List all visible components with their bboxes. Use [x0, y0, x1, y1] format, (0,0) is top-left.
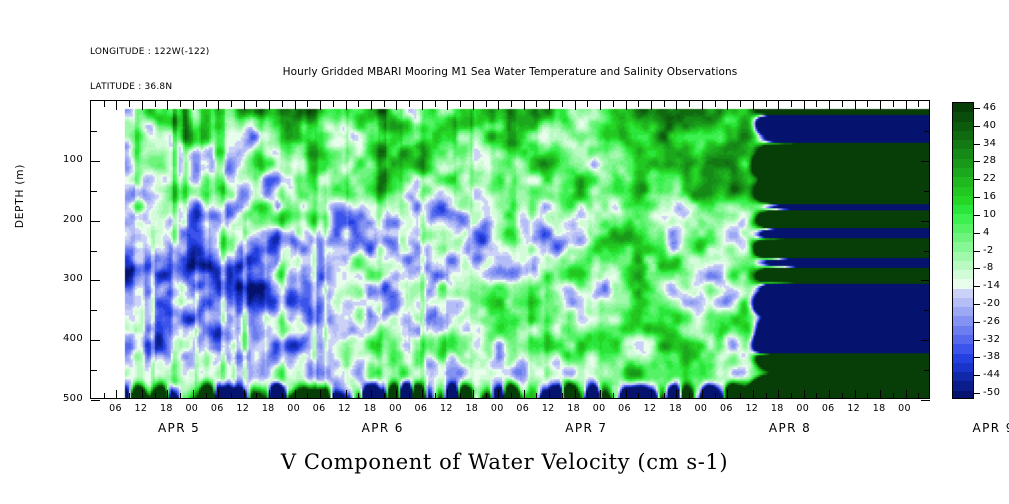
x-axis-day-label: APR 5	[124, 421, 234, 435]
colorbar-tick-label: -2	[983, 246, 994, 256]
x-axis-tick	[575, 390, 576, 399]
colorbar-tick-label: -14	[983, 281, 1000, 291]
x-axis-minor-tick	[104, 101, 105, 107]
x-axis-tick	[549, 101, 550, 110]
colorbar-ticks: 464034282216104-2-8-14-20-26-32-38-44-50	[952, 102, 1009, 399]
colorbar-tick-label: -20	[983, 299, 1000, 309]
x-axis-minor-tick	[918, 101, 919, 107]
y-axis-minor-tick	[91, 370, 97, 371]
colorbar-tick	[974, 286, 980, 287]
colorbar-tick	[974, 340, 980, 341]
x-axis-minor-tick	[536, 101, 537, 107]
x-axis-tick	[651, 101, 652, 110]
figure-caption: V Component of Water Velocity (cm s-1)	[0, 450, 1009, 474]
x-axis-tick	[116, 390, 117, 399]
x-axis-minor-tick	[587, 393, 588, 399]
colorbar-tick-label: 22	[983, 174, 996, 184]
x-axis-minor-tick	[791, 101, 792, 107]
plot-frame	[90, 100, 930, 399]
colorbar-tick-label: 34	[983, 139, 996, 149]
x-axis-tick	[371, 390, 372, 399]
y-axis-tick	[921, 280, 930, 281]
x-axis-tick	[804, 390, 805, 399]
colorbar-tick	[974, 108, 980, 109]
x-axis-tick	[346, 101, 347, 110]
x-axis-tick	[422, 101, 423, 110]
x-axis-tick	[676, 101, 677, 110]
x-axis-minor-tick	[740, 101, 741, 107]
colorbar-tick	[974, 375, 980, 376]
colorbar-tick	[974, 179, 980, 180]
x-axis-minor-tick	[358, 101, 359, 107]
x-axis-minor-tick	[409, 393, 410, 399]
colorbar-tick	[974, 251, 980, 252]
x-axis-tick	[473, 101, 474, 110]
colorbar-tick-label: 4	[983, 228, 990, 238]
x-axis-tick	[829, 101, 830, 110]
y-axis-depth-label: 100	[43, 154, 83, 165]
x-axis-tick	[320, 101, 321, 110]
y-axis-depth-label: 300	[43, 273, 83, 284]
colorbar-tick	[974, 233, 980, 234]
x-axis-tick	[778, 101, 779, 110]
y-axis-minor-tick	[91, 251, 97, 252]
x-axis-tick	[269, 390, 270, 399]
y-axis-tick	[921, 400, 930, 401]
x-axis-tick	[753, 390, 754, 399]
plot-title: Hourly Gridded MBARI Mooring M1 Sea Wate…	[90, 66, 930, 78]
x-axis-tick	[371, 101, 372, 110]
x-axis-minor-tick	[206, 393, 207, 399]
x-axis-minor-tick	[740, 393, 741, 399]
x-axis-tick	[626, 390, 627, 399]
x-axis-tick	[727, 101, 728, 110]
x-axis-minor-tick	[664, 393, 665, 399]
x-axis-minor-tick	[638, 393, 639, 399]
x-axis-tick	[549, 390, 550, 399]
x-axis-minor-tick	[409, 101, 410, 107]
colorbar-tick	[974, 197, 980, 198]
x-axis-tick	[600, 390, 601, 399]
colorbar-tick-label: 16	[983, 192, 996, 202]
x-axis-minor-tick	[256, 101, 257, 107]
x-axis-minor-tick	[384, 101, 385, 107]
x-axis-tick	[906, 390, 907, 399]
x-axis-minor-tick	[155, 393, 156, 399]
x-axis-minor-tick	[307, 393, 308, 399]
x-axis-tick	[880, 101, 881, 110]
colorbar-tick-label: -26	[983, 317, 1000, 327]
x-axis-tick	[167, 101, 168, 110]
x-axis-tick	[193, 101, 194, 110]
x-axis-tick	[906, 101, 907, 110]
x-axis-tick	[244, 390, 245, 399]
x-axis-minor-tick	[613, 393, 614, 399]
x-axis-tick	[778, 390, 779, 399]
x-axis-tick	[524, 101, 525, 110]
x-axis-minor-tick	[638, 101, 639, 107]
x-axis-minor-tick	[816, 101, 817, 107]
x-axis-minor-tick	[715, 101, 716, 107]
x-axis-minor-tick	[333, 393, 334, 399]
colorbar-tick	[974, 144, 980, 145]
x-axis-tick	[447, 390, 448, 399]
y-axis-minor-tick	[924, 131, 930, 132]
x-axis-minor-tick	[180, 393, 181, 399]
x-axis-tick	[651, 390, 652, 399]
x-axis-minor-tick	[689, 101, 690, 107]
x-axis-minor-tick	[587, 101, 588, 107]
x-axis-minor-tick	[333, 101, 334, 107]
x-axis-tick	[295, 101, 296, 110]
x-axis-minor-tick	[664, 101, 665, 107]
x-axis-tick	[855, 390, 856, 399]
x-axis-tick	[804, 101, 805, 110]
colorbar-tick	[974, 357, 980, 358]
colorbar-tick	[974, 322, 980, 323]
x-axis-minor-tick	[435, 101, 436, 107]
x-axis-tick	[396, 101, 397, 110]
x-axis-tick	[600, 101, 601, 110]
x-axis-tick	[727, 390, 728, 399]
x-axis-tick	[116, 101, 117, 110]
x-axis-minor-tick	[766, 393, 767, 399]
colorbar-tick-label: 28	[983, 156, 996, 166]
x-axis-minor-tick	[155, 101, 156, 107]
latitude-label: LATITUDE : 36.8N	[90, 82, 210, 94]
x-axis-tick	[295, 390, 296, 399]
x-axis-tick	[880, 390, 881, 399]
x-axis-tick	[447, 101, 448, 110]
y-axis-minor-tick	[924, 191, 930, 192]
x-axis-minor-tick	[358, 393, 359, 399]
x-axis-day-label: APR 6	[328, 421, 438, 435]
colorbar-tick-label: -38	[983, 352, 1000, 362]
x-axis-minor-tick	[715, 393, 716, 399]
x-axis-tick	[320, 390, 321, 399]
colorbar-tick-label: -32	[983, 335, 1000, 345]
colorbar-tick-label: 46	[983, 103, 996, 113]
x-axis-tick	[142, 101, 143, 110]
y-axis-tick	[91, 161, 100, 162]
x-axis-minor-tick	[536, 393, 537, 399]
x-axis-tick	[524, 390, 525, 399]
x-axis-tick	[498, 390, 499, 399]
x-axis-minor-tick	[460, 101, 461, 107]
x-axis-minor-tick	[129, 101, 130, 107]
y-axis-minor-tick	[924, 251, 930, 252]
x-axis-tick	[269, 101, 270, 110]
y-axis-title: DEPTH (m)	[14, 164, 26, 228]
y-axis-tick	[91, 340, 100, 341]
x-axis-minor-tick	[893, 393, 894, 399]
x-axis-minor-tick	[282, 101, 283, 107]
x-axis-tick	[753, 101, 754, 110]
x-axis-minor-tick	[766, 101, 767, 107]
x-axis-minor-tick	[180, 101, 181, 107]
x-axis-minor-tick	[460, 393, 461, 399]
y-axis-tick	[91, 400, 100, 401]
x-axis-minor-tick	[307, 101, 308, 107]
y-axis-minor-tick	[91, 191, 97, 192]
x-axis-day-label: APR 8	[735, 421, 845, 435]
x-axis-tick	[218, 101, 219, 110]
colorbar-tick	[974, 215, 980, 216]
x-axis-day-label: APR 7	[531, 421, 641, 435]
colorbar-tick-label: -44	[983, 370, 1000, 380]
x-axis-tick	[422, 390, 423, 399]
x-axis-tick	[855, 101, 856, 110]
x-axis-tick	[626, 101, 627, 110]
x-axis-minor-tick	[435, 393, 436, 399]
x-axis-tick	[702, 390, 703, 399]
x-axis-minor-tick	[562, 393, 563, 399]
longitude-label: LONGITUDE : 122W(-122)	[90, 47, 210, 59]
x-axis-tick	[676, 390, 677, 399]
x-axis-minor-tick	[918, 393, 919, 399]
y-axis-tick	[921, 340, 930, 341]
y-axis-minor-tick	[924, 370, 930, 371]
velocity-heatmap	[91, 101, 929, 398]
y-axis-minor-tick	[924, 310, 930, 311]
y-axis-depth-label: 500	[43, 393, 83, 404]
y-axis-minor-tick	[91, 310, 97, 311]
y-axis-tick	[91, 221, 100, 222]
x-axis-minor-tick	[206, 101, 207, 107]
colorbar-tick	[974, 126, 980, 127]
x-axis-minor-tick	[486, 393, 487, 399]
x-axis-tick	[142, 390, 143, 399]
x-axis-hour-label: 00	[885, 403, 925, 414]
x-axis-minor-tick	[689, 393, 690, 399]
x-axis-tick	[702, 101, 703, 110]
x-axis-tick	[575, 101, 576, 110]
x-axis-tick	[498, 101, 499, 110]
x-axis-minor-tick	[231, 101, 232, 107]
colorbar-tick	[974, 393, 980, 394]
x-axis-tick	[167, 390, 168, 399]
colorbar-tick	[974, 268, 980, 269]
x-axis-minor-tick	[893, 101, 894, 107]
x-axis-minor-tick	[842, 393, 843, 399]
y-axis-tick	[91, 280, 100, 281]
x-axis-tick	[346, 390, 347, 399]
x-axis-minor-tick	[842, 101, 843, 107]
x-axis-tick	[218, 390, 219, 399]
colorbar-tick-label: -8	[983, 263, 994, 273]
x-axis-minor-tick	[867, 101, 868, 107]
x-axis-minor-tick	[511, 393, 512, 399]
x-axis-minor-tick	[104, 393, 105, 399]
y-axis-tick	[921, 221, 930, 222]
x-axis-tick	[473, 390, 474, 399]
y-axis-depth-label: 400	[43, 333, 83, 344]
x-axis-minor-tick	[129, 393, 130, 399]
x-axis-minor-tick	[282, 393, 283, 399]
x-axis-minor-tick	[562, 101, 563, 107]
x-axis-minor-tick	[816, 393, 817, 399]
x-axis-tick	[829, 390, 830, 399]
colorbar-tick	[974, 304, 980, 305]
x-axis-minor-tick	[256, 393, 257, 399]
colorbar-tick-label: 40	[983, 121, 996, 131]
x-axis-day-label: APR 9	[939, 421, 1009, 435]
x-axis-minor-tick	[613, 101, 614, 107]
x-axis-minor-tick	[867, 393, 868, 399]
x-axis-minor-tick	[486, 101, 487, 107]
colorbar-tick-label: -50	[983, 388, 1000, 398]
y-axis-tick	[921, 161, 930, 162]
colorbar-tick	[974, 161, 980, 162]
x-axis-minor-tick	[231, 393, 232, 399]
y-axis-depth-label: 200	[43, 214, 83, 225]
x-axis-minor-tick	[511, 101, 512, 107]
y-axis-minor-tick	[91, 131, 97, 132]
x-axis-tick	[244, 101, 245, 110]
colorbar-tick-label: 10	[983, 210, 996, 220]
x-axis-minor-tick	[384, 393, 385, 399]
x-axis-tick	[396, 390, 397, 399]
x-axis-tick	[193, 390, 194, 399]
x-axis-minor-tick	[791, 393, 792, 399]
